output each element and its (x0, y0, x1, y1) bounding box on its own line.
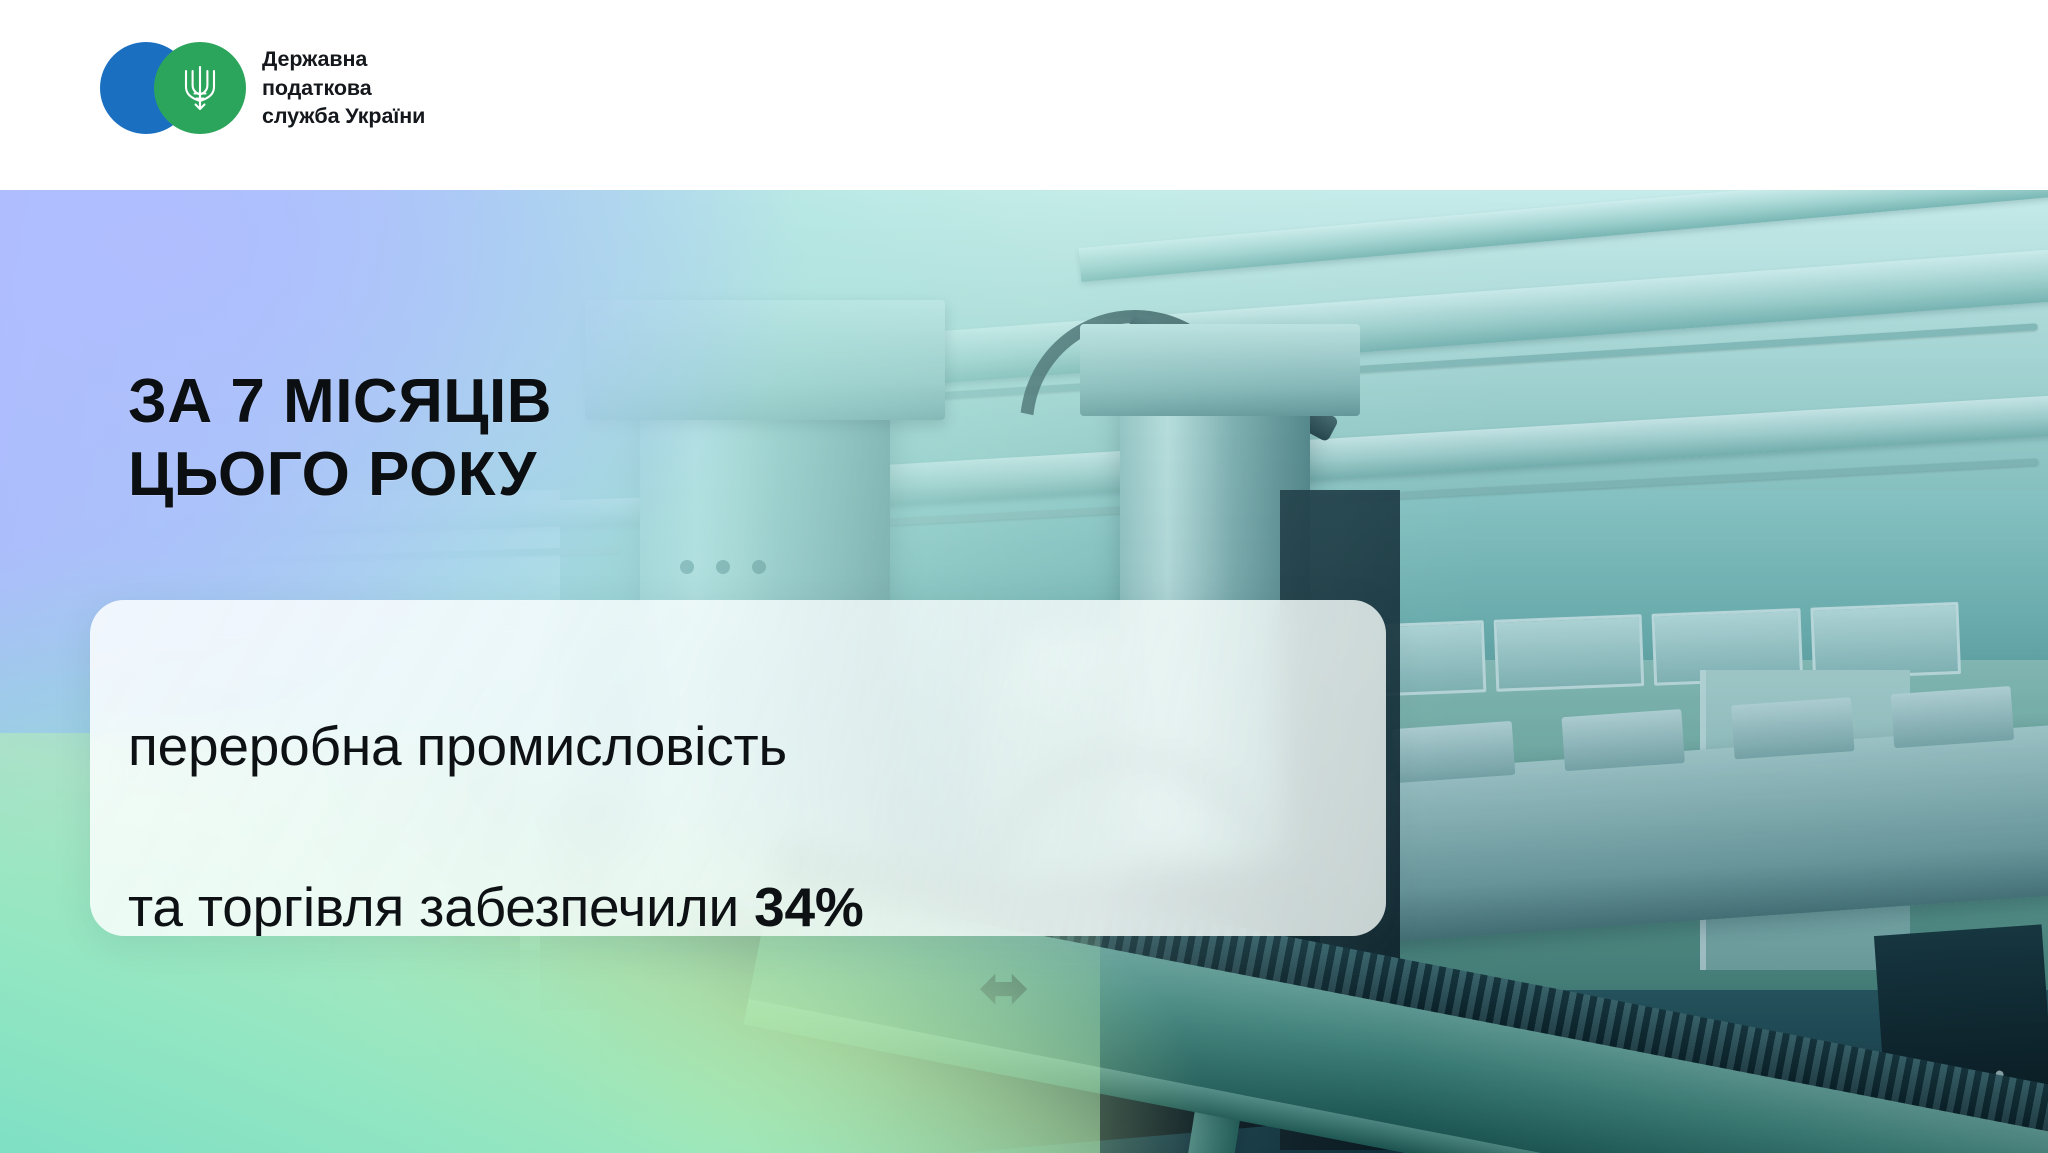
percent-highlight: 34% (754, 876, 863, 936)
statement-line-2-text: та торгівля забезпечили (128, 876, 754, 936)
page-title: ЗА 7 МІСЯЦІВ ЦЬОГО РОКУ (128, 365, 552, 511)
poster-canvas: ⬌ ЗА 7 МІСЯЦІВ ЦЬОГО РОКУ переробна пром… (0, 0, 2048, 1153)
logo-block[interactable]: Державна податкова служба України (100, 42, 425, 134)
background-stage: ⬌ ЗА 7 МІСЯЦІВ ЦЬОГО РОКУ переробна пром… (0, 190, 2048, 1153)
statement-line-2: та торгівля забезпечили 34% (128, 867, 1366, 936)
ukraine-trident-icon (154, 42, 246, 134)
statement-line-1: переробна промисловість (128, 706, 1366, 786)
header-band: Державна податкова служба України (0, 0, 2048, 190)
statement-card: переробна промисловість та торгівля забе… (90, 600, 1386, 936)
statement-text: переробна промисловість та торгівля забе… (128, 626, 1366, 936)
logo-marks (100, 42, 246, 134)
organization-name: Державна податкова служба України (262, 45, 425, 131)
